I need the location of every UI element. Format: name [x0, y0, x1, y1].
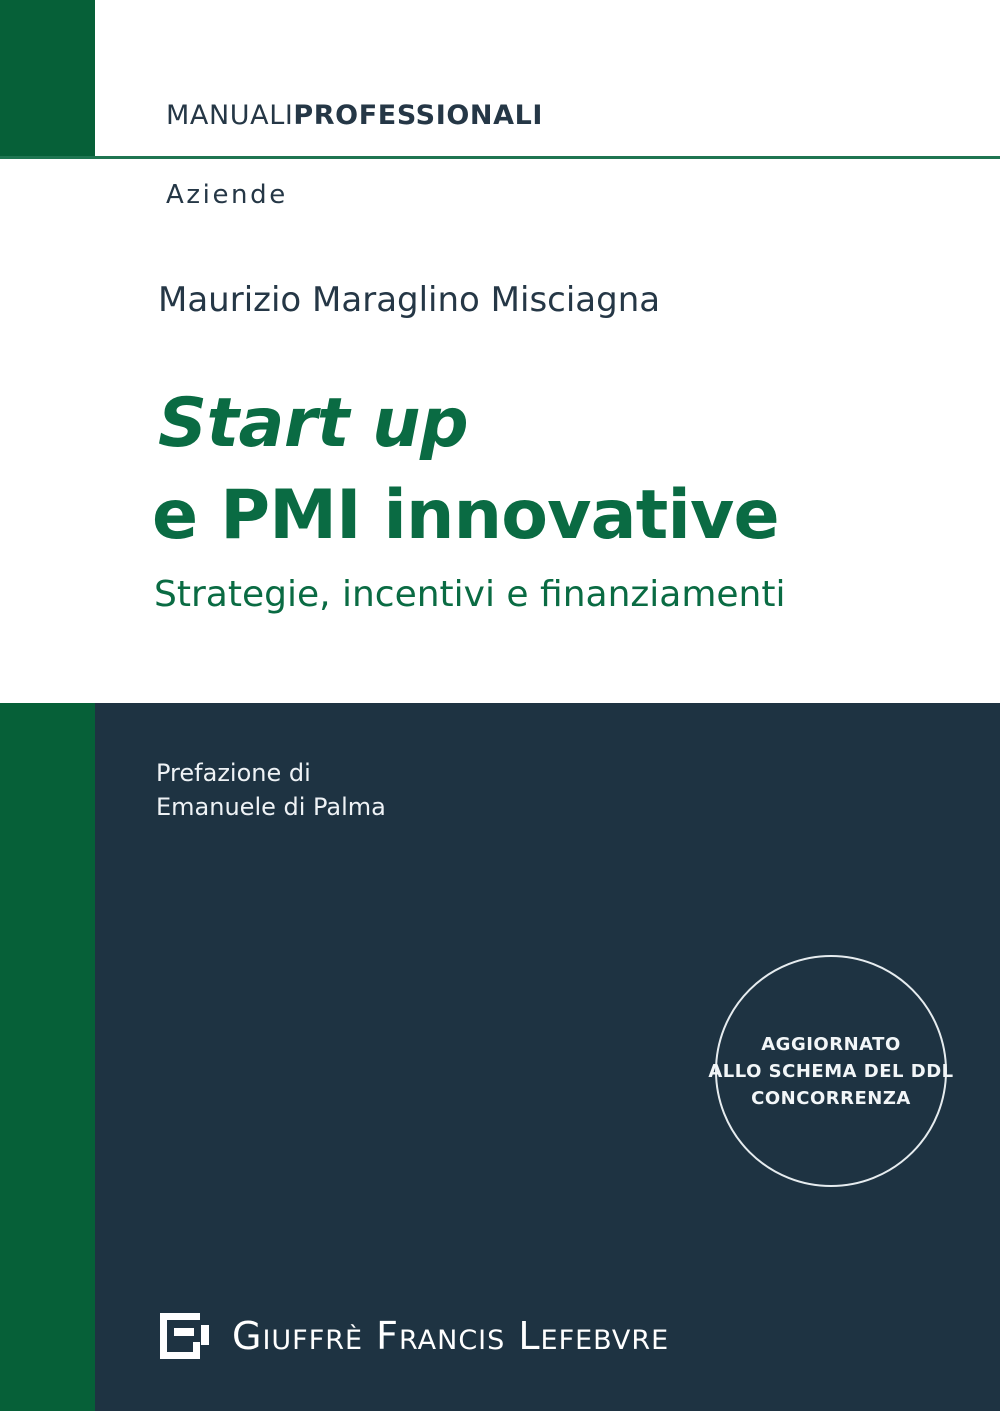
green-band-bottom: [0, 703, 95, 1411]
series-label: MANUALIPROFESSIONALI: [166, 102, 543, 129]
title-line-1: Start up: [158, 390, 468, 458]
series-label-prefix: MANUALI: [166, 100, 293, 131]
preface-line-2: Emanuele di Palma: [156, 790, 386, 824]
category-label: Aziende: [166, 182, 288, 208]
green-band-top: [0, 0, 95, 156]
publisher-name: Giuffrè Francis Lefebvre: [232, 1317, 669, 1355]
badge-line-2: ALLO SCHEMA DEL DDL: [708, 1058, 953, 1085]
giuffre-g-mark-icon: [160, 1313, 210, 1359]
header-divider-rule: [0, 156, 1000, 159]
badge-line-1: AGGIORNATO: [761, 1031, 901, 1058]
series-label-suffix: PROFESSIONALI: [293, 100, 543, 131]
preface-credit: Prefazione di Emanuele di Palma: [156, 756, 386, 824]
title-line-2: e PMI innovative: [152, 482, 779, 550]
subtitle: Strategie, incentivi e finanziamenti: [154, 577, 786, 613]
book-cover: MANUALIPROFESSIONALI Aziende Maurizio Ma…: [0, 0, 1000, 1411]
publisher-logo: Giuffrè Francis Lefebvre: [160, 1313, 669, 1359]
update-badge: AGGIORNATO ALLO SCHEMA DEL DDL CONCORREN…: [715, 955, 947, 1187]
badge-line-3: CONCORRENZA: [751, 1085, 911, 1112]
author-name: Maurizio Maraglino Misciagna: [158, 283, 660, 317]
preface-line-1: Prefazione di: [156, 756, 386, 790]
